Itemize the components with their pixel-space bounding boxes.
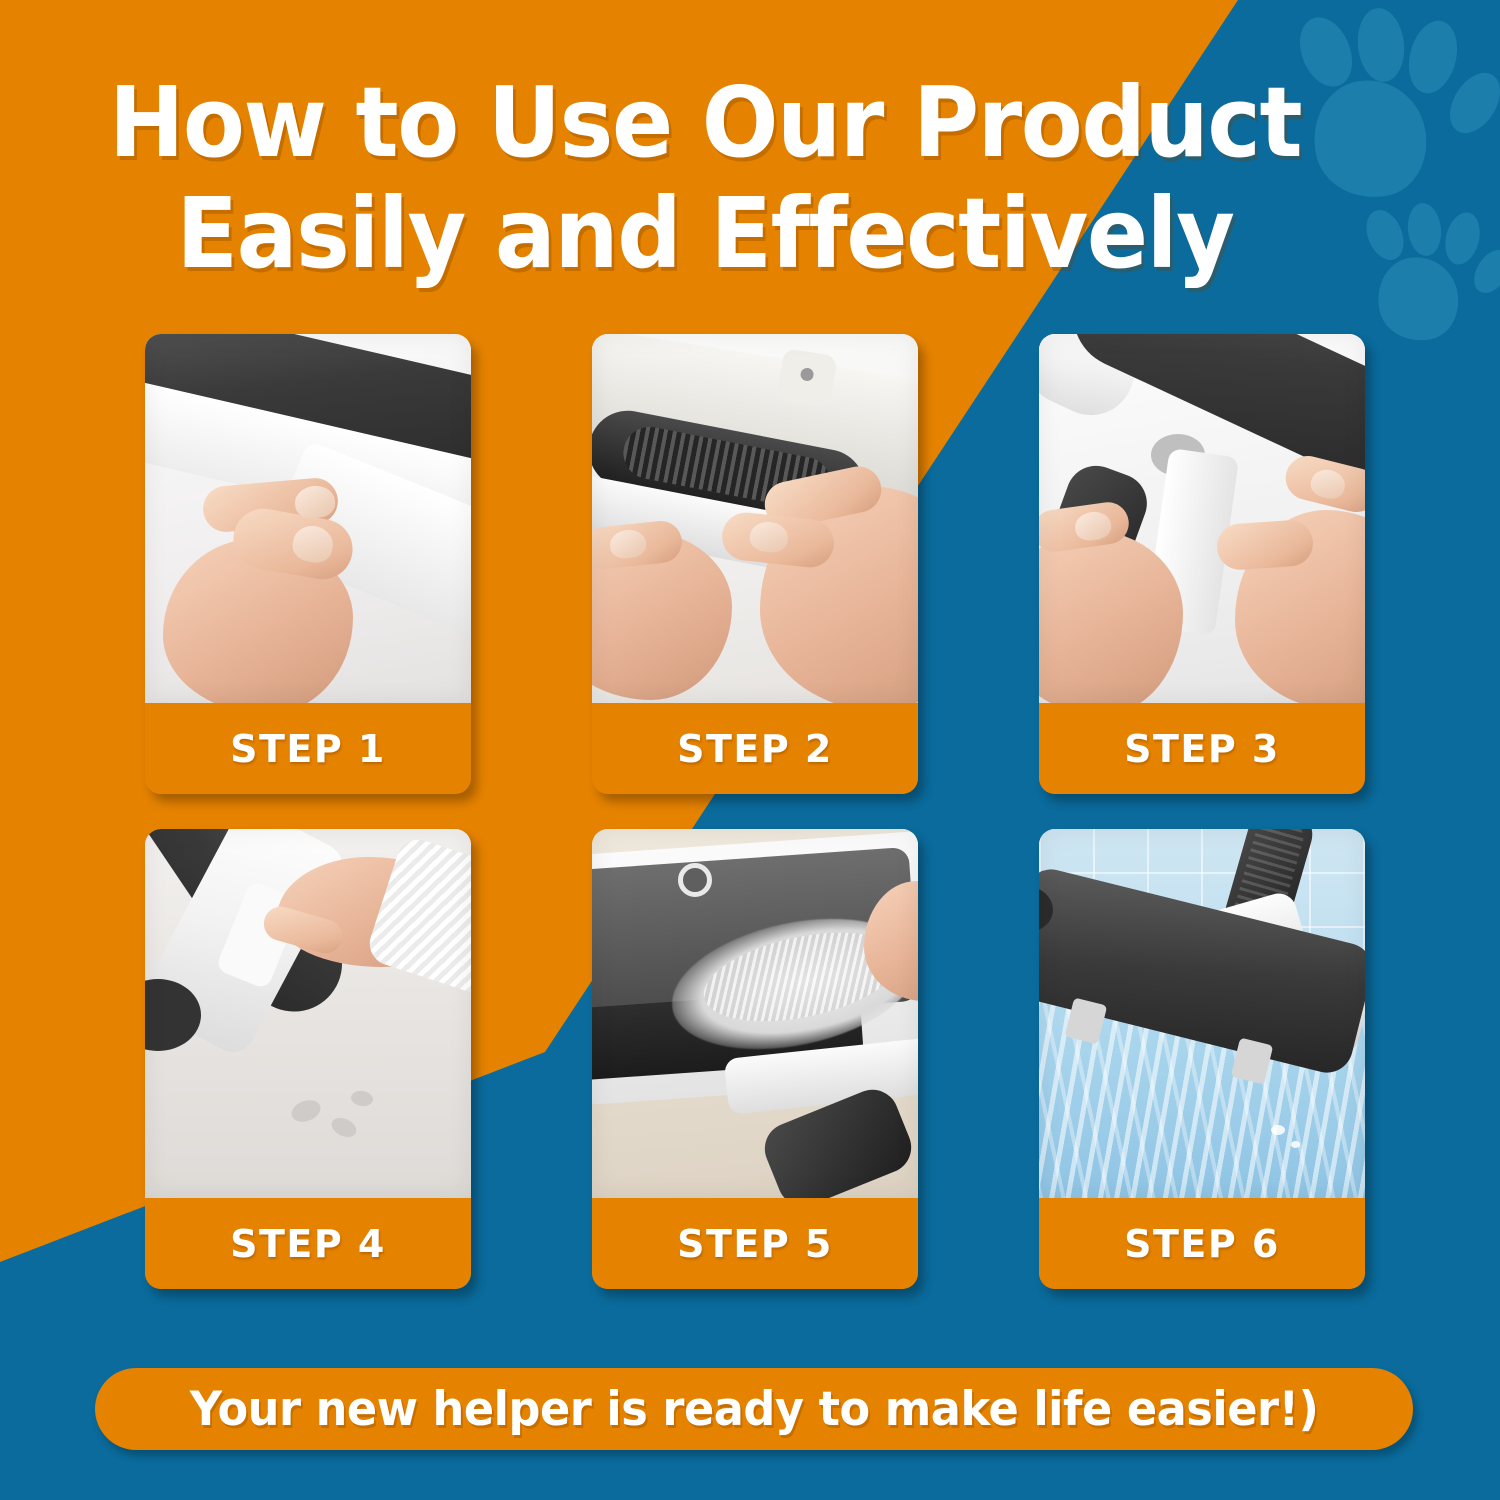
step-photo-3 <box>1039 334 1365 703</box>
step-photo-4 <box>145 829 471 1198</box>
step-label-1: STEP 1 <box>230 727 386 771</box>
lint-speck <box>329 1114 360 1140</box>
steps-grid: STEP 1 <box>145 334 1375 1289</box>
step-label-3: STEP 3 <box>1124 727 1280 771</box>
device-tab <box>776 348 837 408</box>
step-label-4: STEP 4 <box>230 1222 386 1266</box>
step-card-4[interactable]: STEP 4 <box>145 829 471 1289</box>
lint-speck <box>288 1096 323 1125</box>
step-photo-2 <box>592 334 918 703</box>
footer-banner: Your new helper is ready to make life ea… <box>95 1368 1413 1450</box>
step-caption-3: STEP 3 <box>1039 703 1365 794</box>
step-caption-5: STEP 5 <box>592 1198 918 1289</box>
page-title-line-2: Easily and Effectively <box>49 183 1360 286</box>
pivot-screw-icon <box>678 863 712 897</box>
step-label-5: STEP 5 <box>677 1222 833 1266</box>
step-photo-6 <box>1039 829 1365 1198</box>
step-label-2: STEP 2 <box>677 727 833 771</box>
step-caption-6: STEP 6 <box>1039 1198 1365 1289</box>
water-droplet <box>1291 1141 1300 1148</box>
page-title-line-1: How to Use Our Product <box>49 72 1360 175</box>
lint-speck <box>350 1090 374 1108</box>
step-caption-1: STEP 1 <box>145 703 471 794</box>
step-card-2[interactable]: STEP 2 <box>592 334 918 794</box>
step-card-5[interactable]: STEP 5 <box>592 829 918 1289</box>
step-card-3[interactable]: STEP 3 <box>1039 334 1365 794</box>
water-droplet <box>1271 1125 1285 1135</box>
footer-banner-text: Your new helper is ready to make life ea… <box>190 1382 1319 1437</box>
step-caption-2: STEP 2 <box>592 703 918 794</box>
screw-icon <box>800 367 815 382</box>
finger <box>1216 519 1315 572</box>
infographic-poster: How to Use Our Product Easily and Effect… <box>0 0 1500 1500</box>
step-caption-4: STEP 4 <box>145 1198 471 1289</box>
step-card-1[interactable]: STEP 1 <box>145 334 471 794</box>
page-title: How to Use Our Product Easily and Effect… <box>0 72 1410 286</box>
step-label-6: STEP 6 <box>1124 1222 1280 1266</box>
step-card-6[interactable]: STEP 6 <box>1039 829 1365 1289</box>
step-photo-5 <box>592 829 918 1198</box>
step-photo-1 <box>145 334 471 703</box>
